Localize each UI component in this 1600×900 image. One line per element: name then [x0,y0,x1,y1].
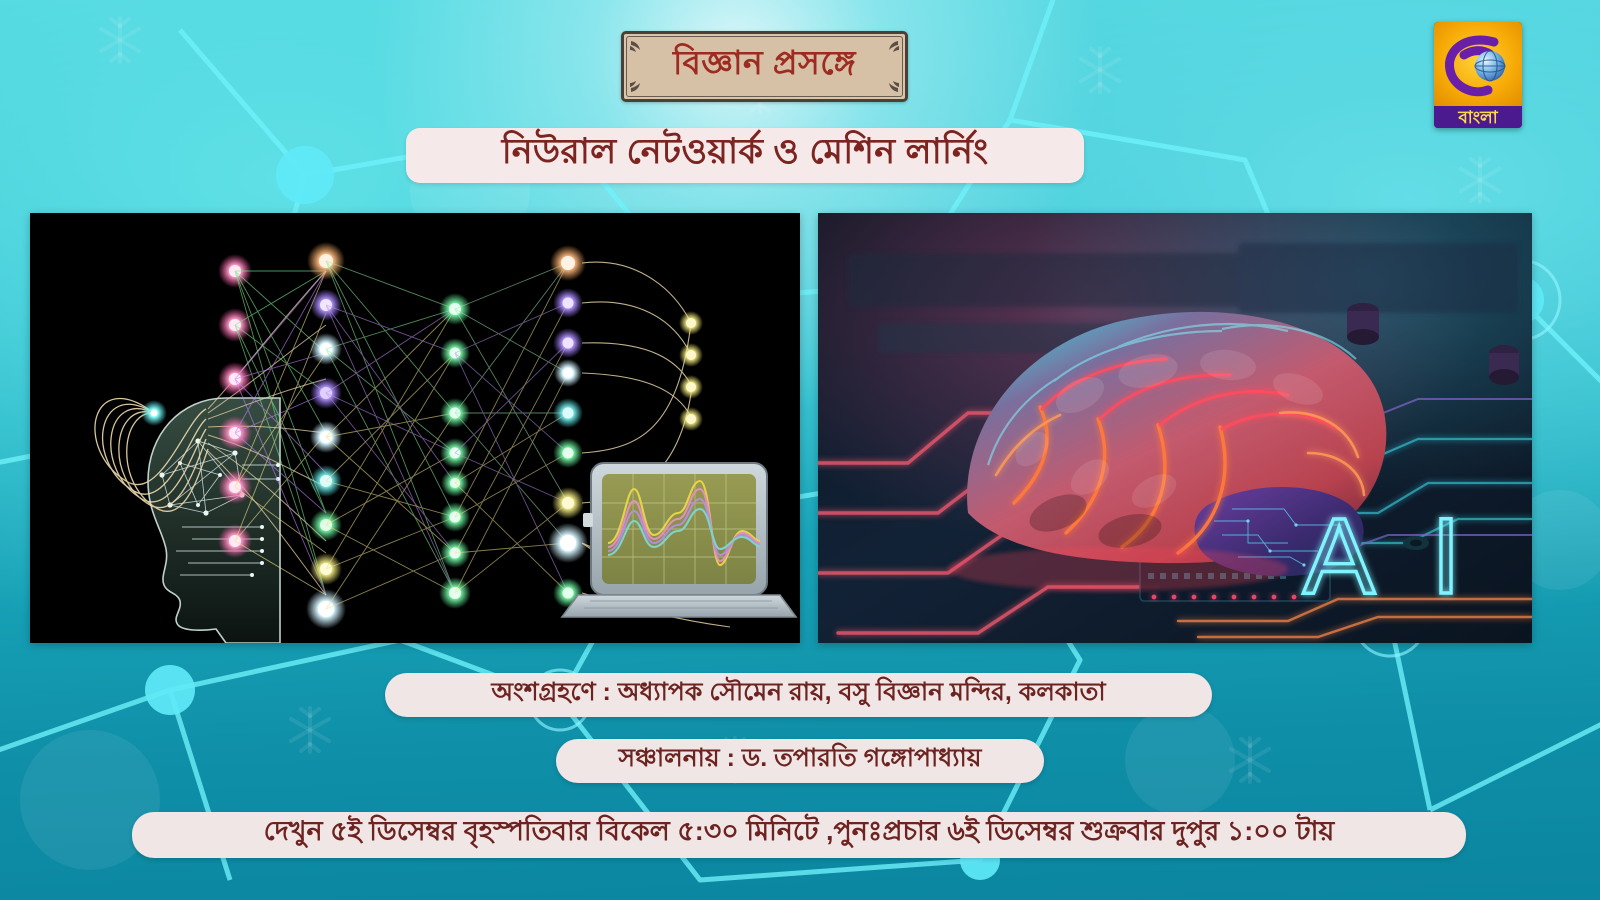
anchor-credit-banner: সঞ্চালনায় : ড. তপারতি গঙ্গোপাধ্যায় [556,739,1044,783]
neural-network-graphic [30,213,800,643]
anchor-credit-text: সঞ্চালনায় : ড. তপারতি গঙ্গোপাধ্যায় [619,738,982,785]
nn-layer-2 [306,242,346,629]
laptop-illustration [562,463,796,617]
broadcast-schedule-text: দেখুন ৫ই ডিসেম্বর বৃহস্পতিবার বিকেল ৫:৩০… [264,811,1335,860]
participant-credit-text: অংশগ্রহণে : অধ্যাপক সৌমেন রায়, বসু বিজ্… [491,672,1105,719]
series-name-text: বিজ্ঞান প্রসঙ্গে [621,31,908,102]
logo-text: বাংলা [1457,108,1498,127]
broadcast-schedule-banner: দেখুন ৫ই ডিসেম্বর বৃহস্পতিবার বিকেল ৫:৩০… [132,812,1466,858]
participant-credit-banner: অংশগ্রহণে : অধ্যাপক সৌমেন রায়, বসু বিজ্… [385,673,1212,717]
series-name-plaque: বিজ্ঞান প্রসঙ্গে [621,31,908,102]
episode-title-text: নিউরাল নেটওয়ার্ক ও মেশিন লার্নিং [502,124,989,188]
dd-bangla-logo-icon: বাংলা [1434,22,1522,128]
brain-circuit-graphic: A I [818,213,1532,643]
episode-title-banner: নিউরাল নেটওয়ার্ক ও মেশিন লার্নিং [406,128,1084,183]
ai-overlay-text: A I [1303,495,1477,616]
svg-text:A I: A I [1303,495,1477,616]
dd-bangla-logo: বাংলা [1434,22,1522,128]
ai-brain-circuit-photo: A I [818,213,1532,643]
neural-network-illustration [30,213,800,643]
